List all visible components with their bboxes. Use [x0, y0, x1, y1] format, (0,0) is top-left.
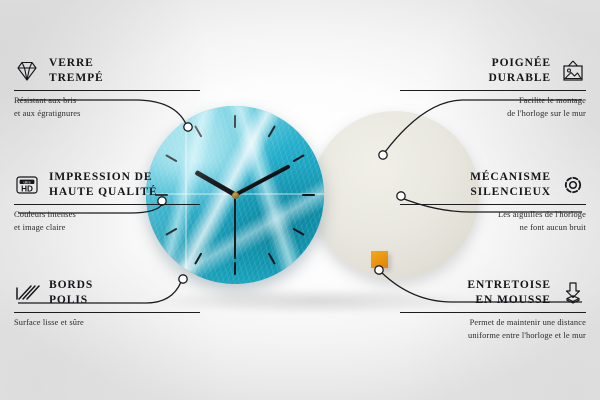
gear-icon: [560, 172, 586, 198]
callout-sub-line1: Couleurs intenses: [14, 209, 200, 221]
callout-title-line1: POIGNÉE: [492, 57, 551, 69]
callout-title-line1: BORDS: [49, 279, 93, 291]
ultra-hd-icon: ultra HD: [14, 172, 40, 198]
callout-impression-haute-qualite: ultra HD IMPRESSION DE HAUTE QUALITÉ Cou…: [14, 170, 200, 234]
ultra-hd-icon-bottom-text: HD: [21, 184, 33, 193]
callout-sub-line1: Facilite le montage: [400, 95, 586, 107]
foam-spacer-icon: [560, 280, 586, 306]
callout-title-line1: VERRE: [49, 57, 94, 69]
callout-mecanisme-silencieux: MÉCANISME SILENCIEUX Les aiguilles de l'…: [400, 170, 586, 234]
callout-title-line1: IMPRESSION DE: [49, 171, 152, 183]
picture-hanger-icon: [560, 58, 586, 84]
callout-title-line2: EN MOUSSE: [475, 294, 551, 306]
callout-rule: [400, 90, 586, 91]
callout-sub-line2: ne font aucun bruit: [400, 222, 586, 234]
callout-title-line2: SILENCIEUX: [470, 186, 551, 198]
diamond-icon: [14, 58, 40, 84]
callout-bords-polis: BORDS POLIS Surface lisse et sûre: [14, 278, 200, 330]
callout-title-line2: TREMPÉ: [49, 72, 104, 84]
callout-title-line2: DURABLE: [488, 72, 551, 84]
callout-rule: [14, 312, 200, 313]
callout-rule: [400, 204, 586, 205]
callout-entretoise-en-mousse: ENTRETOISE EN MOUSSE Permet de maintenir…: [400, 278, 586, 342]
callout-poignee-durable: POIGNÉE DURABLE Facilite le montage de l…: [400, 56, 586, 120]
callout-sub-line1: Les aiguilles de l'horloge: [400, 209, 586, 221]
callout-title-line1: MÉCANISME: [470, 171, 551, 183]
callout-sub-line2: et image claire: [14, 222, 200, 234]
polished-edges-icon: [14, 280, 40, 306]
callout-rule: [14, 204, 200, 205]
foam-spacer-square: [371, 251, 388, 268]
callout-sub-line1: Surface lisse et sûre: [14, 317, 200, 329]
product-infographic: VERRE TREMPÉ Résistant aux bris et aux é…: [0, 0, 600, 400]
callout-rule: [400, 312, 586, 313]
callout-sub-line1: Résistant aux bris: [14, 95, 200, 107]
callout-sub-line2: et aux égratignures: [14, 108, 200, 120]
callout-sub-line1: Permet de maintenir une distance: [400, 317, 586, 329]
callout-title-line1: ENTRETOISE: [467, 279, 551, 291]
callout-rule: [14, 90, 200, 91]
callout-sub-line2: uniforme entre l'horloge et le mur: [400, 330, 586, 342]
callout-title-line2: POLIS: [49, 294, 88, 306]
callout-sub-line2: de l'horloge sur le mur: [400, 108, 586, 120]
callout-title-line2: HAUTE QUALITÉ: [49, 186, 158, 198]
callout-verre-trempe: VERRE TREMPÉ Résistant aux bris et aux é…: [14, 56, 200, 120]
